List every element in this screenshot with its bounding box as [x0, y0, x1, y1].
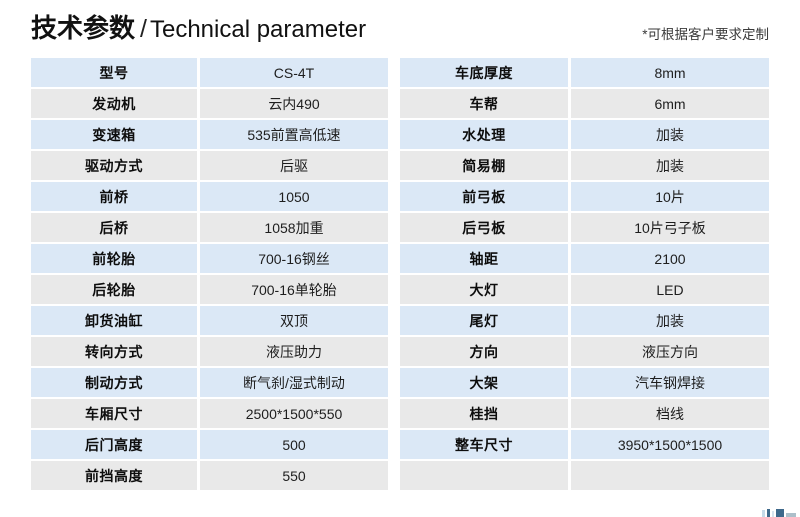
- spec-label: 方向: [400, 337, 568, 366]
- spec-value: LED: [571, 275, 769, 304]
- page-title: 技术参数/Technical parameter: [31, 11, 366, 47]
- table-row: 后桥1058加重: [31, 213, 388, 242]
- spec-value: 8mm: [571, 58, 769, 87]
- table-row: 简易棚加装: [400, 151, 769, 180]
- spec-label: 前轮胎: [31, 244, 197, 273]
- table-row: [400, 461, 769, 490]
- table-row: 前桥1050: [31, 182, 388, 211]
- table-row: 整车尺寸3950*1500*1500: [400, 430, 769, 459]
- page-title-separator: /: [135, 15, 150, 43]
- spec-value: 500: [200, 430, 388, 459]
- spec-value: 液压助力: [200, 337, 388, 366]
- spec-value: 550: [200, 461, 388, 490]
- spec-label: 型号: [31, 58, 197, 87]
- table-row: 驱动方式后驱: [31, 151, 388, 180]
- spec-value: 700-16单轮胎: [200, 275, 388, 304]
- spec-label: 车底厚度: [400, 58, 568, 87]
- page-header: 技术参数/Technical parameter *可根据客户要求定制: [0, 0, 800, 58]
- spec-label: 尾灯: [400, 306, 568, 335]
- spec-value: 汽车钢焊接: [571, 368, 769, 397]
- table-row: 制动方式断气刹/湿式制动: [31, 368, 388, 397]
- spec-value: 6mm: [571, 89, 769, 118]
- table-row: 轴距2100: [400, 244, 769, 273]
- spec-value: 2500*1500*550: [200, 399, 388, 428]
- table-row: 后弓板10片弓子板: [400, 213, 769, 242]
- spec-label: 前桥: [31, 182, 197, 211]
- spec-label: 水处理: [400, 120, 568, 149]
- spec-label: 前弓板: [400, 182, 568, 211]
- spec-label: 车厢尺寸: [31, 399, 197, 428]
- spec-label: 转向方式: [31, 337, 197, 366]
- spec-label: 车帮: [400, 89, 568, 118]
- watermark-bar: [767, 509, 770, 517]
- spec-label: 大灯: [400, 275, 568, 304]
- spec-value: 加装: [571, 120, 769, 149]
- table-row: 前挡高度550: [31, 461, 388, 490]
- spec-label: 前挡高度: [31, 461, 197, 490]
- watermark-bar: [772, 511, 775, 517]
- spec-label: 制动方式: [31, 368, 197, 397]
- page-title-chinese: 技术参数: [31, 13, 135, 43]
- spec-value: 2100: [571, 244, 769, 273]
- spec-value: 档线: [571, 399, 769, 428]
- table-row: 方向液压方向: [400, 337, 769, 366]
- spec-value: 液压方向: [571, 337, 769, 366]
- spec-value: 云内490: [200, 89, 388, 118]
- spec-label: 变速箱: [31, 120, 197, 149]
- table-row: 卸货油缸双顶: [31, 306, 388, 335]
- spec-value: 双顶: [200, 306, 388, 335]
- spec-value: 700-16钢丝: [200, 244, 388, 273]
- table-row: 转向方式液压助力: [31, 337, 388, 366]
- page-title-english: Technical parameter: [150, 16, 366, 43]
- table-row: 尾灯加装: [400, 306, 769, 335]
- watermark-bar: [786, 513, 796, 517]
- table-row: 后轮胎700-16单轮胎: [31, 275, 388, 304]
- table-row: 型号CS-4T: [31, 58, 388, 87]
- table-row: 大架汽车钢焊接: [400, 368, 769, 397]
- spec-value: 1058加重: [200, 213, 388, 242]
- spec-value: 断气刹/湿式制动: [200, 368, 388, 397]
- table-row: 车底厚度8mm: [400, 58, 769, 87]
- spec-label: 后门高度: [31, 430, 197, 459]
- spec-value: [571, 461, 769, 490]
- spec-label: 桂挡: [400, 399, 568, 428]
- spec-value: 535前置高低速: [200, 120, 388, 149]
- spec-label: 整车尺寸: [400, 430, 568, 459]
- spec-label: [400, 461, 568, 490]
- spec-label: 后桥: [31, 213, 197, 242]
- spec-label: 大架: [400, 368, 568, 397]
- watermark-bar: [762, 510, 765, 517]
- watermark-bar: [776, 509, 783, 517]
- table-row: 桂挡档线: [400, 399, 769, 428]
- spec-value: 1050: [200, 182, 388, 211]
- watermark-logo: [762, 508, 796, 517]
- spec-value: 加装: [571, 151, 769, 180]
- spec-value: 加装: [571, 306, 769, 335]
- table-row: 变速箱535前置高低速: [31, 120, 388, 149]
- spec-value: CS-4T: [200, 58, 388, 87]
- spec-label: 简易棚: [400, 151, 568, 180]
- spec-table-right: 车底厚度8mm车帮6mm水处理加装简易棚加装前弓板10片后弓板10片弓子板轴距2…: [400, 58, 769, 490]
- spec-label: 卸货油缸: [31, 306, 197, 335]
- table-row: 后门高度500: [31, 430, 388, 459]
- table-row: 发动机云内490: [31, 89, 388, 118]
- spec-label: 发动机: [31, 89, 197, 118]
- customization-note: *可根据客户要求定制: [642, 26, 769, 44]
- spec-table-left: 型号CS-4T发动机云内490变速箱535前置高低速驱动方式后驱前桥1050后桥…: [31, 58, 388, 490]
- table-row: 前轮胎700-16钢丝: [31, 244, 388, 273]
- spec-label: 驱动方式: [31, 151, 197, 180]
- spec-label: 轴距: [400, 244, 568, 273]
- table-row: 大灯LED: [400, 275, 769, 304]
- spec-value: 3950*1500*1500: [571, 430, 769, 459]
- table-row: 车厢尺寸2500*1500*550: [31, 399, 388, 428]
- table-row: 车帮6mm: [400, 89, 769, 118]
- spec-label: 后轮胎: [31, 275, 197, 304]
- table-row: 前弓板10片: [400, 182, 769, 211]
- spec-value: 10片: [571, 182, 769, 211]
- spec-value: 10片弓子板: [571, 213, 769, 242]
- table-row: 水处理加装: [400, 120, 769, 149]
- spec-value: 后驱: [200, 151, 388, 180]
- spec-label: 后弓板: [400, 213, 568, 242]
